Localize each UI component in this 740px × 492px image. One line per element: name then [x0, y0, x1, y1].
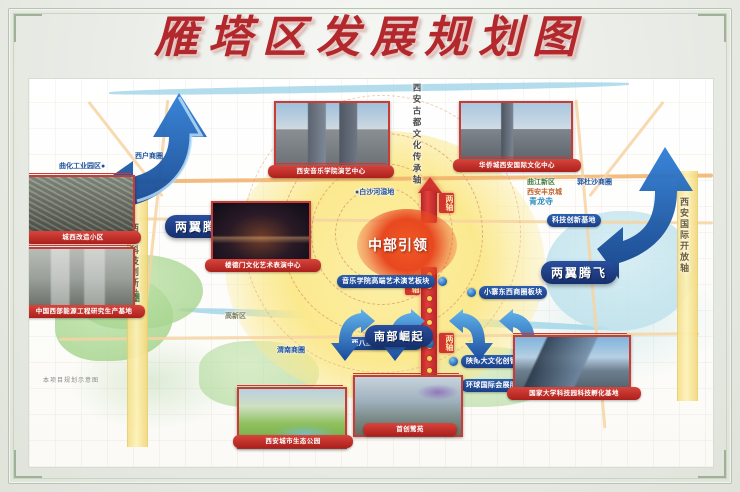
banner-right-wing: 两翼腾飞 — [541, 261, 617, 284]
photo-bottom-left-leader — [237, 385, 343, 386]
place-label-qinglongsi: 青龙寺 — [529, 196, 553, 207]
photo-bottom-mid-leader — [353, 373, 459, 374]
zone-pill-music-arts-label: 音乐学院高端艺术演艺板块 — [337, 275, 435, 288]
place-label-quijiang: 曲江新区 — [527, 177, 555, 187]
photo-bottom-left-caption: 西安城市生态公园 — [233, 435, 353, 448]
photo-top-left-caption: 西安音乐学院演艺中心 — [268, 165, 394, 178]
place-label-highnew-district: 高新区 — [225, 311, 246, 321]
photo-right[interactable] — [513, 335, 631, 395]
photo-top-left[interactable] — [274, 101, 390, 167]
zone-marker-dot — [438, 277, 447, 286]
photo-right-caption: 国家大学科技园科技孵化基地 — [507, 387, 641, 400]
axis-label-center: 西安古都文化传承轴 — [411, 83, 423, 187]
photo-right-building — [515, 337, 629, 393]
photo-left-bottom-caption: 中国西部能源工程研究生产基地 — [28, 305, 145, 318]
zone-pill-xiaozhai-business-label: 小寨东西商圈板块 — [479, 286, 547, 299]
place-label-weinan-business: 渭南商圈 — [277, 345, 305, 355]
map-footer-note: 本项目规划示意图 — [43, 375, 99, 384]
poster-title: 雁塔区发展规划图 — [0, 12, 740, 64]
photo-left-top[interactable] — [28, 175, 135, 233]
photo-mid-theater-stage — [213, 203, 309, 259]
photo-mid-theater[interactable] — [211, 201, 311, 261]
photo-mid-theater-caption: 楼德门文化艺术表演中心 — [205, 259, 321, 272]
axis-tag-north: 两轴 — [439, 193, 454, 213]
photo-top-left-leader — [274, 163, 386, 164]
zone-pill-music-arts[interactable]: 音乐学院高端艺术演艺板块 — [337, 275, 447, 288]
photo-left-bottom-structure — [29, 249, 133, 305]
photo-top-right-leader — [459, 157, 569, 158]
photo-left-bottom-leader — [28, 245, 131, 246]
zone-pill-tech-innovation-base[interactable]: 科技创新基地 — [547, 214, 601, 227]
photo-left-top-leader — [28, 173, 131, 174]
photo-top-right-caption: 华侨城西安国际文化中心 — [453, 159, 581, 172]
photo-left-top-caption: 城西改造小区 — [28, 231, 141, 244]
right-wing-swoosh — [597, 141, 714, 281]
photo-top-right[interactable] — [459, 101, 573, 161]
photo-top-left-building — [276, 103, 388, 165]
zone-pill-tech-innovation-base-label: 科技创新基地 — [547, 214, 601, 227]
photo-bottom-mid-caption: 首创鹭苑 — [363, 423, 457, 436]
place-label-xian-fengjing: 西安丰京城 — [527, 187, 562, 197]
core-hub-label: 中部引领 — [368, 235, 428, 255]
zone-marker-dot — [467, 288, 476, 297]
zone-pill-xiaozhai-business[interactable]: 小寨东西商圈板块 — [467, 286, 547, 299]
banner-south-rise: 南部崛起 — [365, 325, 433, 347]
photo-right-leader — [513, 333, 627, 334]
photo-left-top-texture — [29, 177, 133, 231]
photo-left-bottom[interactable] — [28, 247, 135, 307]
poster-root: 雁塔区发展规划图 西安科技创新轴 西安国际开放轴 — [0, 0, 740, 492]
place-label-baisha-wetland: ●白沙河湿地 — [355, 187, 394, 197]
map-canvas: 西安科技创新轴 西安国际开放轴 西安古都文化传承轴 两轴 南轴 两轴 中部引领 — [28, 78, 714, 468]
photo-top-right-tower — [461, 103, 571, 159]
